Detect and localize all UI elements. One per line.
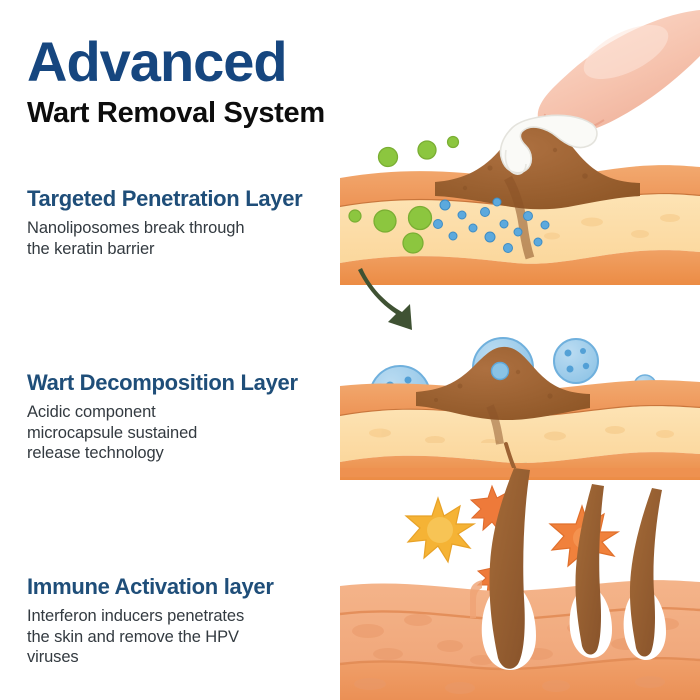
illustration-targeted-penetration xyxy=(340,0,700,290)
page-title: Advanced xyxy=(27,34,287,90)
page-subtitle: Wart Removal System xyxy=(27,97,325,129)
infographic-canvas: Advanced Wart Removal System Targeted Pe… xyxy=(0,0,700,700)
section-targeted-penetration: Targeted Penetration Layer Nanoliposomes… xyxy=(27,186,347,259)
green-particles-surface xyxy=(379,137,459,167)
section-heading: Immune Activation layer xyxy=(27,574,347,600)
section-heading: Wart Decomposition Layer xyxy=(27,370,347,396)
section-body: Acidic component microcapsule sustained … xyxy=(27,402,347,464)
illustration-wart-decomposition xyxy=(340,268,700,483)
section-body: Interferon inducers penetrates the skin … xyxy=(27,606,347,668)
hair-shaft xyxy=(575,484,604,655)
section-body: Nanoliposomes break through the keratin … xyxy=(27,218,347,259)
immune-burst-large xyxy=(406,498,474,562)
hair-follicle-2 xyxy=(570,484,612,658)
liposome-in-wart xyxy=(492,363,509,380)
hair-follicle-3 xyxy=(624,488,666,660)
section-wart-decomposition: Wart Decomposition Layer Acidic componen… xyxy=(27,370,347,464)
section-heading: Targeted Penetration Layer xyxy=(27,186,347,212)
wart-mound xyxy=(435,122,640,209)
section-immune-activation: Immune Activation layer Interferon induc… xyxy=(27,574,347,668)
illustration-immune-activation xyxy=(340,468,700,700)
penetration-arrow-icon xyxy=(358,268,412,330)
